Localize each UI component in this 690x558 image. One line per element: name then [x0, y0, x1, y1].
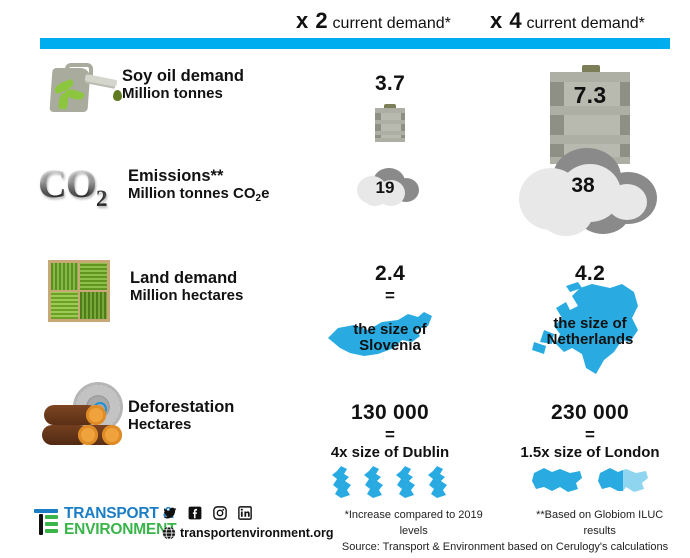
website-line[interactable]: transportenvironment.org [162, 526, 334, 540]
co2-icon: CO2 [40, 162, 130, 237]
facebook-icon[interactable] [188, 506, 202, 520]
row-unit: Hectares [128, 417, 313, 434]
cloud-small-icon: 19 [355, 166, 425, 216]
row-title: Land demand [130, 270, 315, 288]
row-label-emissions: Emissions** Million tonnes CO2e [128, 168, 313, 203]
dublin-shape-group [300, 465, 480, 499]
comparison-text: 4x size of Dublin [300, 445, 480, 461]
value-land-x2: 2.4 = the size of Slovenia [310, 262, 470, 366]
website-url[interactable]: transportenvironment.org [180, 526, 334, 540]
comparison-text: 1.5x size of London [492, 445, 688, 461]
comparison-line2: Slovenia [310, 338, 470, 354]
logs-saw-icon [42, 385, 132, 460]
transport-environment-logo: TRANSPORT & ENVIRONMENT [32, 506, 176, 537]
value-number: 2.4 [310, 262, 470, 286]
row-unit-post: e [261, 185, 269, 202]
column-header-x2: x 2 current demand* [296, 8, 451, 34]
value-number: 7.3 [550, 82, 630, 109]
value-number: 230 000 [492, 401, 688, 425]
value-emissions-x4: 38 [500, 146, 680, 246]
row-unit: Million tonnes CO2e [128, 186, 313, 203]
comparison-line2: Netherlands [500, 332, 680, 348]
value-number: 19 [355, 178, 415, 198]
linkedin-icon[interactable] [238, 506, 252, 520]
value-land-x4: 4.2 = the size of Netherlands [500, 262, 680, 384]
value-emissions-x2: 19 [310, 158, 470, 216]
row-label-deforestation: Deforestation Hectares [128, 399, 313, 434]
row-title: Deforestation [128, 399, 313, 417]
dublin-map-icon [361, 465, 387, 499]
row-title: Soy oil demand [122, 68, 307, 86]
row-title: Emissions** [128, 168, 313, 186]
equals-sign: = [492, 426, 688, 445]
value-soy-oil-x2: 3.7 [310, 72, 470, 142]
logo-line-1: TRANSPORT & [64, 506, 176, 522]
comparison-line1: the size of [310, 322, 470, 338]
logo-line-2: ENVIRONMENT [64, 522, 176, 538]
dublin-map-icon [393, 465, 419, 499]
row-soy-oil-demand: Soy oil demand Million tonnes 3.7 [0, 60, 690, 155]
footnote-2: **Based on Globiom ILUC results [519, 508, 680, 540]
row-label-soy-oil: Soy oil demand Million tonnes [122, 68, 307, 103]
london-shape-group [492, 465, 688, 495]
social-links [163, 506, 252, 520]
te-logo-mark-icon [32, 509, 58, 535]
cloud-large-icon: 38 [515, 146, 665, 246]
row-unit-subscript: 2 [256, 193, 262, 204]
equals-sign: = [310, 287, 470, 306]
source-note: Source: Transport & Environment based on… [330, 540, 680, 556]
row-label-land: Land demand Million hectares [130, 270, 315, 305]
column-header-x4: x 4 current demand* [490, 8, 645, 34]
footnote-1: *Increase compared to 2019 levels [330, 508, 497, 540]
value-number: 38 [515, 174, 651, 198]
footnotes: *Increase compared to 2019 levels **Base… [330, 508, 680, 556]
barrel-small-icon [375, 108, 405, 142]
row-emissions: CO2 Emissions** Million tonnes CO2e 19 [0, 158, 690, 253]
column-header-x2-text: current demand* [333, 15, 451, 32]
column-header-x2-multiplier: x 2 [296, 8, 328, 33]
logo-wordmark: TRANSPORT & ENVIRONMENT [64, 506, 176, 537]
value-deforestation-x2: 130 000 = 4x size of Dublin [300, 401, 480, 499]
value-deforestation-x4: 230 000 = 1.5x size of London [492, 401, 688, 495]
infographic-canvas: x 2 current demand* x 4 current demand* … [0, 0, 690, 558]
row-unit: Million hectares [130, 288, 315, 305]
comparison-line1: the size of [500, 316, 680, 332]
london-map-icon [530, 465, 584, 495]
instagram-icon[interactable] [213, 506, 227, 520]
london-map-half-icon [596, 465, 650, 495]
row-deforestation: Deforestation Hectares 130 000 = 4x size… [0, 385, 690, 505]
row-unit-pre: Million tonnes CO [128, 185, 256, 202]
row-land-demand: Land demand Million hectares 2.4 = the s… [0, 258, 690, 378]
value-number: 3.7 [310, 72, 470, 96]
dublin-map-icon [329, 465, 355, 499]
column-header-x4-multiplier: x 4 [490, 8, 522, 33]
row-unit: Million tonnes [122, 86, 307, 103]
twitter-icon[interactable] [163, 506, 177, 520]
equals-sign: = [300, 426, 480, 445]
value-number: 130 000 [300, 401, 480, 425]
dublin-map-icon [425, 465, 451, 499]
header-divider-bar [40, 38, 670, 49]
crop-field-icon [48, 260, 138, 335]
column-header-x4-text: current demand* [527, 15, 645, 32]
globe-icon [162, 526, 176, 540]
